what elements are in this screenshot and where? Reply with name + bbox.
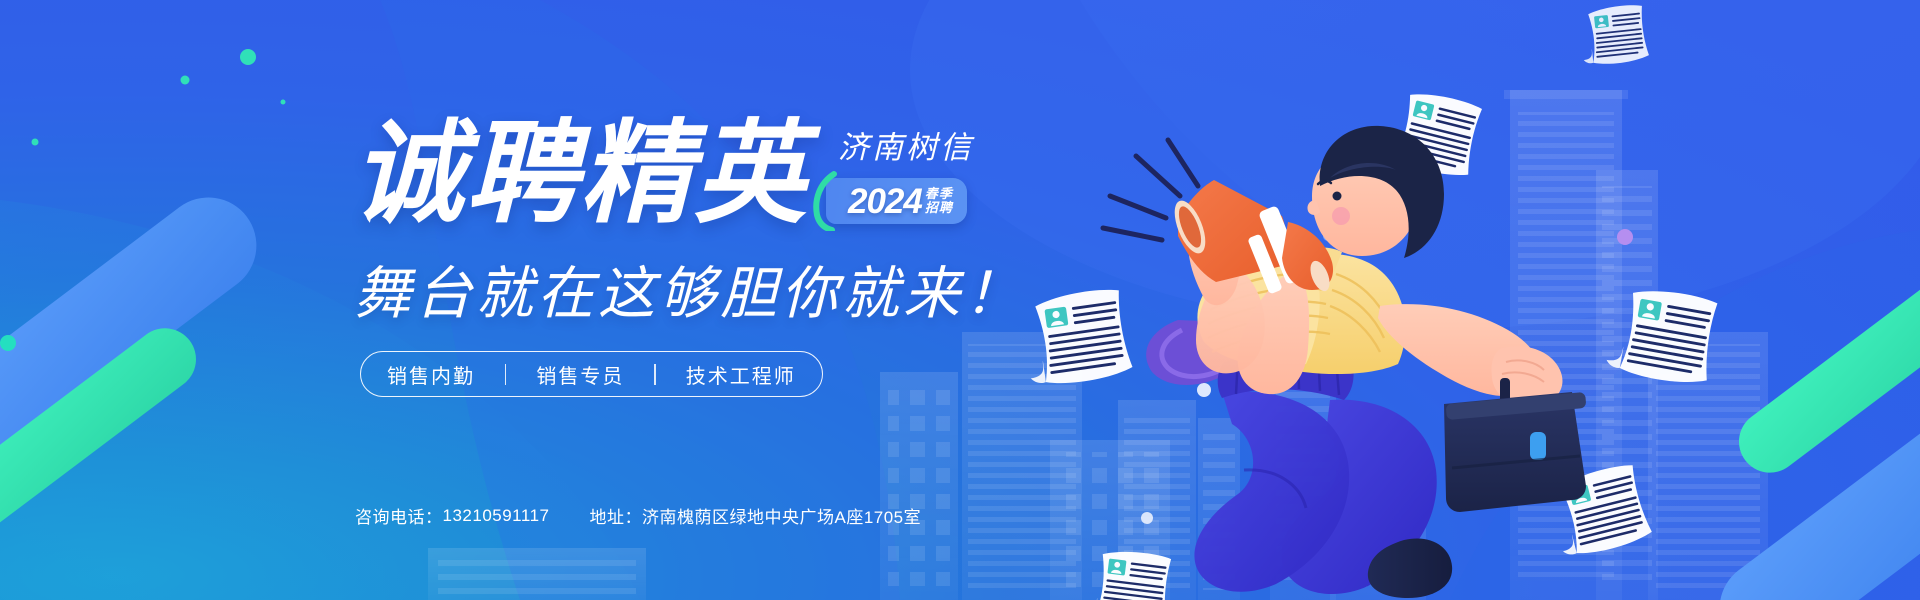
badge-season: 春季 招聘 xyxy=(925,187,953,215)
job-tags-pill[interactable]: 销售内勤 销售专员 技术工程师 xyxy=(360,351,823,397)
badge-season-line1: 春季 xyxy=(925,187,953,201)
badge-hook-accent xyxy=(812,171,838,231)
brand-block: 济南树信 2024 春季 招聘 xyxy=(826,122,974,224)
headline-row: 诚聘精英 济南树信 2024 春季 招聘 xyxy=(352,118,974,230)
badge-season-line2: 招聘 xyxy=(925,201,953,215)
phone-value[interactable]: 13210591117 xyxy=(443,506,550,526)
eye xyxy=(1333,192,1342,201)
address-value: 济南槐荫区绿地中央广场A座1705室 xyxy=(642,503,921,528)
phone-label: 咨询电话： xyxy=(355,503,443,528)
page-title: 诚聘精英 xyxy=(352,118,808,230)
cheek xyxy=(1332,207,1350,225)
brand-name: 济南树信 xyxy=(838,122,974,167)
badge-year: 2024 xyxy=(848,184,922,219)
briefcase-icon xyxy=(1444,378,1586,512)
address-label: 地址： xyxy=(589,503,642,528)
contact-info: 咨询电话： 13210591117 地址： 济南槐荫区绿地中央广场A座1705室 xyxy=(355,503,921,528)
recruitment-banner: 诚聘精英 济南树信 2024 春季 招聘 舞台就在这够胆你就来！ 销售内勤 xyxy=(0,0,1920,600)
job-tag-technical-engineer[interactable]: 技术工程师 xyxy=(686,360,796,389)
job-tag-sales-specialist[interactable]: 销售专员 xyxy=(536,360,624,389)
tag-divider xyxy=(505,364,506,385)
year-badge: 2024 春季 招聘 xyxy=(826,178,967,224)
tag-divider xyxy=(654,364,655,385)
subtitle: 舞台就在这够胆你就来！ xyxy=(354,248,1025,330)
banner-text-content: 诚聘精英 济南树信 2024 春季 招聘 舞台就在这够胆你就来！ 销售内勤 xyxy=(0,0,1060,600)
job-tag-sales-office[interactable]: 销售内勤 xyxy=(387,360,475,389)
